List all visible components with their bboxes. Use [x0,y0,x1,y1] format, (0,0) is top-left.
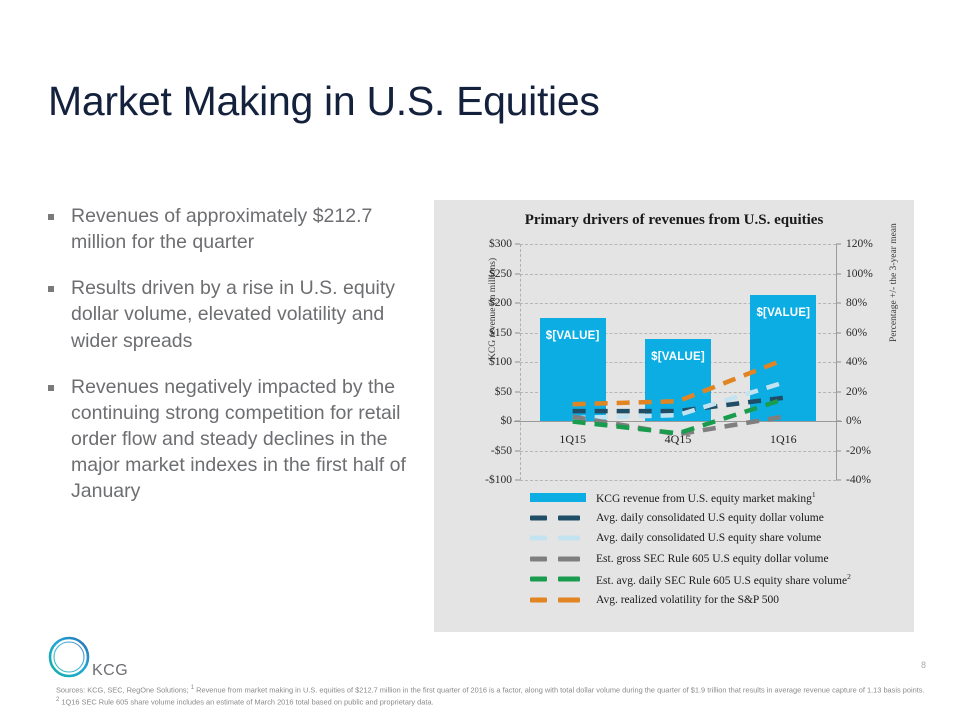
bullet-text: Revenues of approximately $212.7 million… [71,203,428,255]
legend-item[interactable]: Avg. realized volatility for the S&P 500 [530,590,851,611]
bullet-marker-icon [48,214,54,220]
bullet-item: Results driven by a rise in U.S. equity … [48,275,428,353]
legend-item[interactable]: Est. avg. daily SEC Rule 605 U.S equity … [530,569,851,590]
legend-item-label: Est. avg. daily SEC Rule 605 U.S equity … [596,572,851,587]
chart-line-series [573,360,784,404]
sources-note-2: 1Q16 SEC Rule 605 share volume includes … [59,697,433,706]
chart-y2-tick-label: 20% [846,386,867,398]
legend-item-label: Avg. daily consolidated U.S equity dolla… [596,512,824,524]
chart-y2-axis-label: Percentage +/- the 3-year mean [889,223,899,342]
kcg-wordmark: KCG [92,662,128,680]
legend-item-label: Est. gross SEC Rule 605 U.S equity dolla… [596,553,829,565]
chart-y-tick-label: -$50 [491,445,512,457]
sources-prefix: Sources: KCG, SEC, RegOne Solutions; [56,685,191,694]
bullet-text: Revenues negatively impacted by the cont… [71,374,428,505]
legend-swatch-icon [530,493,586,502]
bullet-marker-icon [48,286,54,292]
bullet-item: Revenues of approximately $212.7 million… [48,203,428,255]
chart-y2-tick-label: 80% [846,297,867,309]
legend-footnote-marker: 2 [847,572,851,581]
chart-title: Primary drivers of revenues from U.S. eq… [434,212,914,229]
sources-note-1: Revenue from market making in U.S. equit… [194,685,924,694]
chart-y2-tick-label: 120% [846,238,873,250]
sources-footnote: Sources: KCG, SEC, RegOne Solutions; 1 R… [56,684,926,708]
slide-root: Market Making in U.S. Equities Revenues … [0,0,960,720]
chart-y-tick-label: $300 [489,238,512,250]
legend-item-label: KCG revenue from U.S. equity market maki… [596,490,816,505]
chart-y-tick-label: $0 [501,415,513,427]
chart-right-axis [836,244,837,480]
legend-swatch-icon [530,533,586,543]
legend-swatch-icon [530,554,586,564]
legend-item[interactable]: KCG revenue from U.S. equity market maki… [530,487,851,508]
chart-y2-tick-label: 40% [846,356,867,368]
bullet-item: Revenues negatively impacted by the cont… [48,374,428,505]
legend-swatch-icon [530,513,586,523]
chart-legend: KCG revenue from U.S. equity market maki… [530,487,851,610]
page-title: Market Making in U.S. Equities [48,79,600,124]
bullet-list: Revenues of approximately $212.7 million… [48,203,428,524]
chart-y-tick-label: $250 [489,268,512,280]
chart-y2-tick-label: 0% [846,415,861,427]
chart-y-tick-label: $100 [489,356,512,368]
chart-y-tick-label: $150 [489,327,512,339]
chart-panel: Primary drivers of revenues from U.S. eq… [434,200,914,632]
bullet-text: Results driven by a rise in U.S. equity … [71,275,428,353]
legend-item[interactable]: Avg. daily consolidated U.S equity dolla… [530,508,851,529]
page-number: 8 [921,660,926,670]
chart-y-tick-label: $50 [495,386,512,398]
chart-y-tick-label: -$100 [485,474,512,486]
chart-y2-tick-label: -40% [846,474,871,486]
legend-item-label: Avg. daily consolidated U.S equity share… [596,532,821,544]
chart-line-overlay [520,244,836,480]
legend-swatch-icon [530,574,586,584]
chart-y2-tick-label: 60% [846,327,867,339]
chart-y-tick-label: $200 [489,297,512,309]
legend-footnote-marker: 1 [812,490,816,499]
chart-plot-area: $300120%$250100%$20080%$15060%$10040%$50… [520,244,836,480]
bullet-marker-icon [48,385,54,391]
legend-item-label: Avg. realized volatility for the S&P 500 [596,594,779,606]
legend-swatch-icon [530,595,586,605]
legend-item[interactable]: Est. gross SEC Rule 605 U.S equity dolla… [530,549,851,570]
chart-y2-tick-label: -20% [846,445,871,457]
chart-gridline [520,480,836,481]
legend-item[interactable]: Avg. daily consolidated U.S equity share… [530,528,851,549]
chart-y2-tick-label: 100% [846,268,873,280]
